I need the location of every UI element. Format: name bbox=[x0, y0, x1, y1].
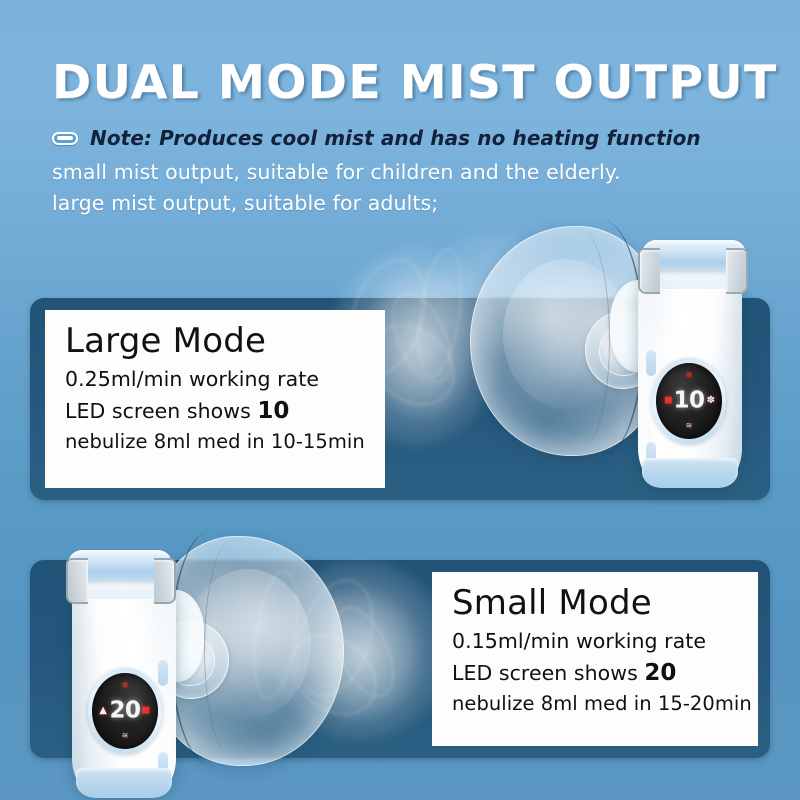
led-bezel: ❄ ■ ✽ ≋ 10 bbox=[652, 358, 726, 444]
large-mode-card: Large Mode 0.25ml/min working rate LED s… bbox=[45, 310, 385, 488]
led-mist-icon: ≋ bbox=[686, 422, 693, 430]
small-mode-card: Small Mode 0.15ml/min working rate LED s… bbox=[432, 572, 758, 746]
infographic-canvas: DUAL MODE MIST OUTPUT Note: Produces coo… bbox=[0, 0, 800, 800]
pill-dash-icon bbox=[52, 132, 78, 145]
large-mode-duration: nebulize 8ml med in 10-15min bbox=[65, 428, 369, 456]
small-mode-led-value: 20 bbox=[644, 660, 676, 686]
small-mode-led-label: LED screen shows bbox=[452, 661, 644, 685]
cap-clasp-left bbox=[638, 248, 660, 294]
small-mode-rate: 0.15ml/min working rate bbox=[452, 627, 742, 657]
led-mist-icon: ≋ bbox=[122, 732, 129, 740]
subtitle-line-1: small mist output, suitable for children… bbox=[52, 158, 752, 187]
large-mode-led-label: LED screen shows bbox=[65, 399, 257, 423]
small-mode-duration: nebulize 8ml med in 15-20min bbox=[452, 690, 742, 718]
device-grip-upper bbox=[158, 660, 168, 686]
led-bezel: ❄ ■ ▲ ≋ 20 bbox=[88, 668, 162, 754]
page-title: DUAL MODE MIST OUTPUT bbox=[52, 58, 773, 106]
header-block: DUAL MODE MIST OUTPUT Note: Produces coo… bbox=[52, 58, 752, 219]
nebulizer-device-small: ❄ ■ ▲ ≋ 20 bbox=[52, 528, 352, 800]
nebulizer-device-large: ❄ ■ ✽ ≋ 10 bbox=[462, 218, 762, 498]
led-digits-display: 20 bbox=[92, 697, 158, 723]
led-screen: ❄ ■ ✽ ≋ 10 bbox=[656, 363, 722, 439]
subtitle-line-2: large mist output, suitable for adults; bbox=[52, 189, 752, 218]
large-mode-rate: 0.25ml/min working rate bbox=[65, 365, 369, 395]
device-base bbox=[642, 458, 738, 488]
note-row: Note: Produces cool mist and has no heat… bbox=[52, 126, 752, 150]
cap-clasp-left bbox=[154, 558, 176, 604]
small-mode-title: Small Mode bbox=[452, 584, 742, 622]
note-text: Note: Produces cool mist and has no heat… bbox=[90, 126, 701, 150]
led-snowflake-icon: ❄ bbox=[685, 372, 693, 381]
mask-strap-secondary bbox=[204, 540, 256, 758]
led-digits-display: 10 bbox=[656, 387, 722, 413]
cap-clasp-right bbox=[66, 558, 88, 604]
large-mode-title: Large Mode bbox=[65, 322, 369, 360]
cap-clasp-right bbox=[726, 248, 748, 294]
large-mode-led-value: 10 bbox=[257, 398, 289, 424]
device-base bbox=[76, 768, 172, 798]
led-snowflake-icon: ❄ bbox=[121, 682, 129, 691]
led-screen: ❄ ■ ▲ ≋ 20 bbox=[92, 673, 158, 749]
small-mode-led-row: LED screen shows 20 bbox=[452, 657, 742, 690]
device-grip-upper bbox=[646, 350, 656, 376]
large-mode-led-row: LED screen shows 10 bbox=[65, 395, 369, 428]
